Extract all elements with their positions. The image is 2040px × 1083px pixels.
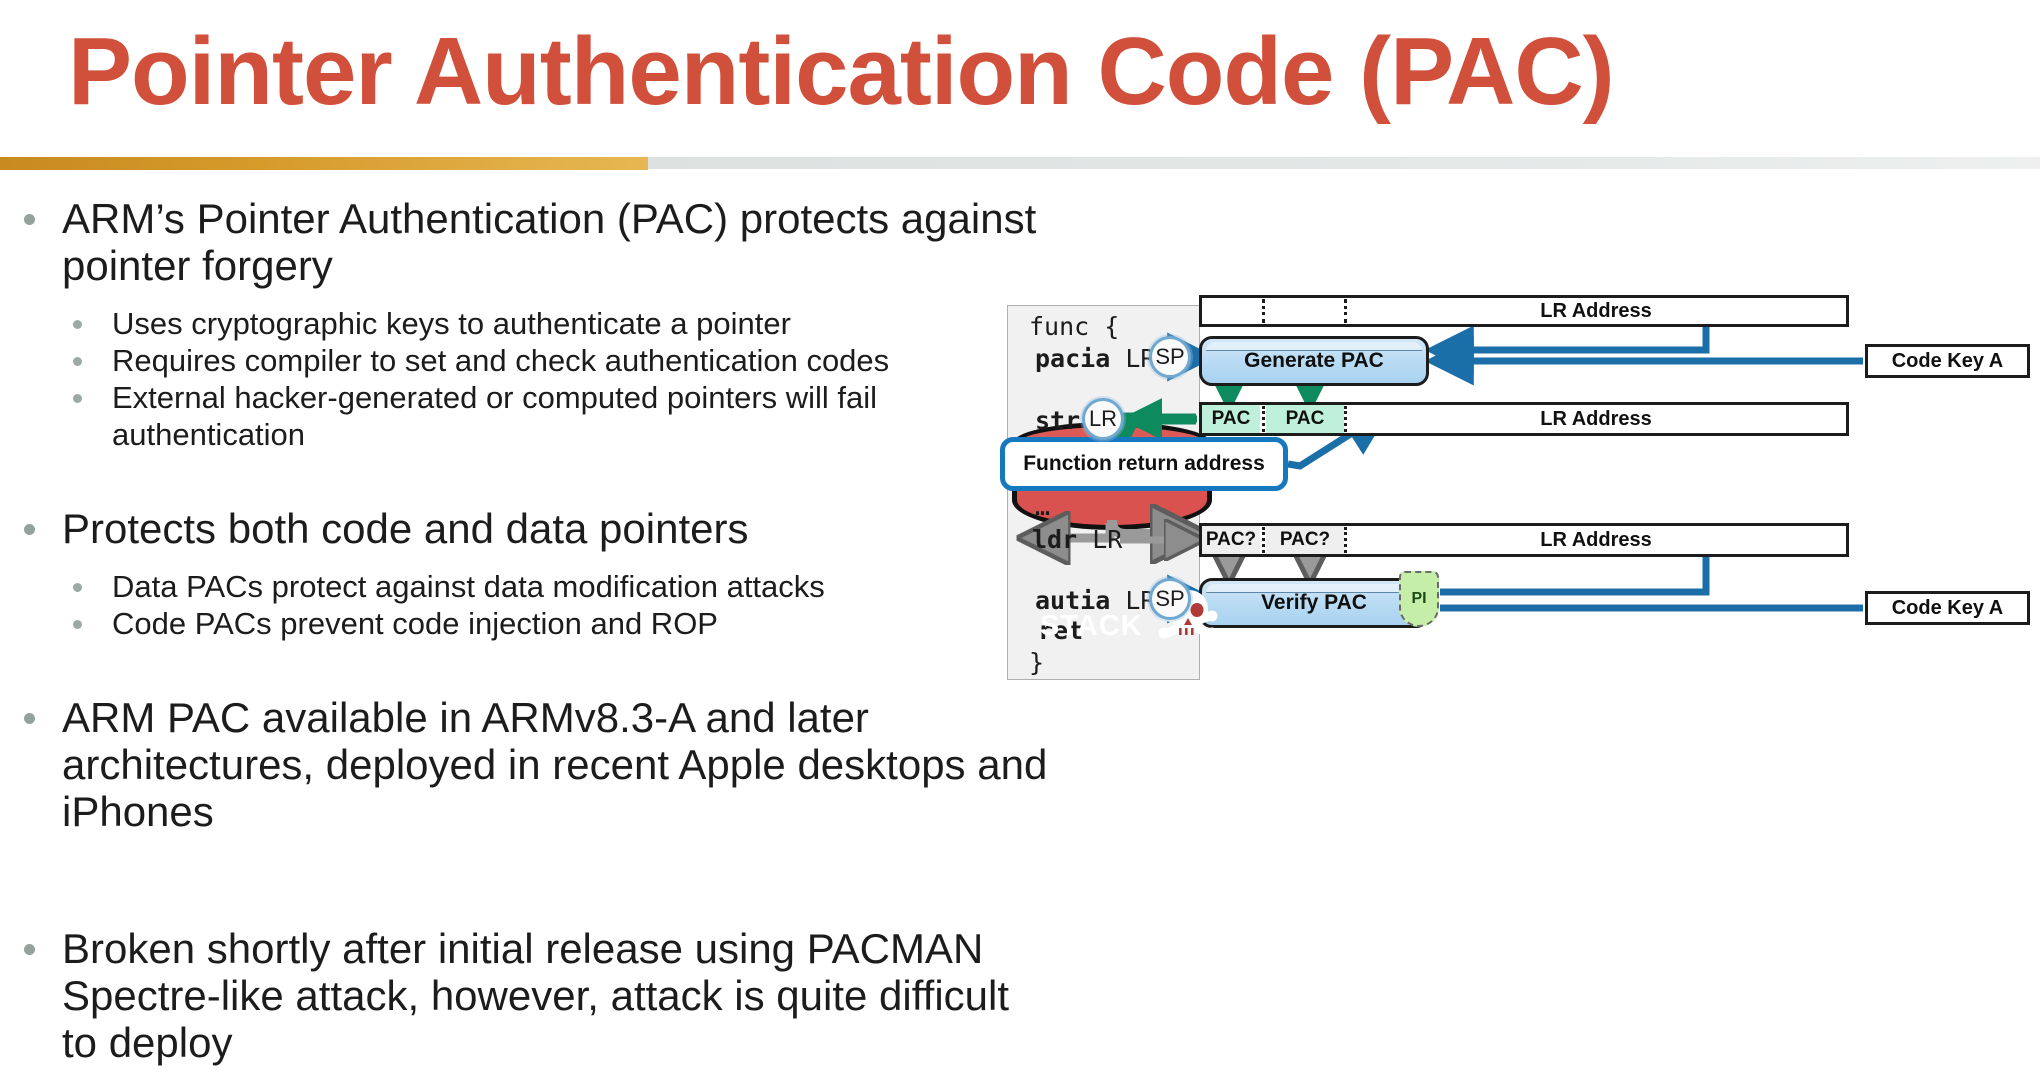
title-divider-gold (0, 157, 648, 170)
code-key-a-bottom-label: Code Key A (1868, 597, 2027, 620)
bullet-dot-icon (73, 357, 82, 366)
callout-function-return-address: Function return address (1000, 437, 1288, 491)
verify-pac-box: Verify PAC (1199, 578, 1429, 628)
register-divider-icon (1344, 299, 1347, 323)
bullet-item: ARM’s Pointer Authentication (PAC) prote… (0, 195, 1050, 289)
code-line-ldr: ldr LR (1032, 525, 1122, 554)
code-line-func-open: func { (1029, 312, 1119, 341)
bullet-text: ARM PAC available in ARMv8.3-A and later… (62, 694, 1047, 835)
bullet-dot-icon (73, 394, 82, 403)
register-address-label: LR Address (1346, 529, 1846, 552)
bullet-list: ARM’s Pointer Authentication (PAC) prote… (0, 195, 1050, 1066)
page-title: Pointer Authentication Code (PAC) (68, 16, 1968, 128)
sub-bullet-item: Requires compiler to set and check authe… (0, 342, 1050, 379)
code-operand-ldr: LR (1092, 525, 1122, 554)
sub-bullet-text: Requires compiler to set and check authe… (112, 343, 889, 378)
stack-label: STACK (1040, 610, 1143, 643)
code-line-str: str (1035, 406, 1080, 435)
register-divider-icon (1344, 406, 1347, 432)
generate-pac-label: Generate PAC (1244, 349, 1384, 373)
bullet-dot-icon (73, 620, 82, 629)
pac-cell-left: PAC (1202, 405, 1260, 433)
register-address-label: LR Address (1346, 408, 1846, 431)
badge-lr: LR (1082, 398, 1124, 440)
pac-unknown-cell-left: PAC? (1202, 526, 1260, 554)
sub-bullet-text: External hacker-generated or computed po… (112, 380, 877, 452)
badge-sp-bottom: SP (1149, 578, 1191, 620)
bullet-item: Protects both code and data pointers (0, 505, 1050, 552)
title-divider (0, 157, 2040, 170)
bullet-dot-icon (24, 214, 35, 225)
code-mnemonic-ldr: ldr (1032, 525, 1077, 554)
register-divider-icon (1262, 527, 1265, 553)
sub-bullet-item: Uses cryptographic keys to authenticate … (0, 305, 1050, 342)
generate-pac-box: Generate PAC (1199, 336, 1429, 386)
bullet-dot-icon (73, 320, 82, 329)
verify-pac-label: Verify PAC (1261, 591, 1367, 615)
bullet-dot-icon (73, 583, 82, 592)
bullet-text: Broken shortly after initial release usi… (62, 925, 1009, 1066)
shield-label: PI (1411, 590, 1426, 608)
register-divider-icon (1262, 299, 1265, 323)
code-mnemonic-str: str (1035, 406, 1080, 435)
bullet-item: ARM PAC available in ARMv8.3-A and later… (0, 694, 1050, 835)
register-divider-icon (1262, 406, 1265, 432)
sub-bullet-item: Data PACs protect against data modificat… (0, 568, 1050, 605)
code-line-func-close: } (1029, 648, 1044, 677)
bullet-dot-icon (24, 713, 35, 724)
bullet-text: ARM’s Pointer Authentication (PAC) prote… (62, 195, 1036, 289)
title-divider-grey (648, 157, 2040, 169)
bullet-text: Protects both code and data pointers (62, 505, 748, 552)
register-divider-icon (1344, 527, 1347, 553)
sub-bullet-text: Code PACs prevent code injection and ROP (112, 606, 718, 641)
pac-unknown-cell-right: PAC? (1266, 526, 1344, 554)
pac-cell-right: PAC (1266, 405, 1344, 433)
sub-bullet-text: Uses cryptographic keys to authenticate … (112, 306, 791, 341)
sub-bullet-text: Data PACs protect against data modificat… (112, 569, 825, 604)
code-key-a-top-label: Code Key A (1868, 350, 2027, 373)
register-row-top: LR Address (1199, 295, 1849, 327)
code-key-a-bottom: Code Key A (1865, 591, 2030, 625)
shield-icon: PI (1399, 571, 1439, 627)
code-line-ellipsis: … (1035, 492, 1051, 521)
register-address-label: LR Address (1346, 300, 1846, 323)
bullet-dot-icon (24, 524, 35, 535)
badge-sp-top: SP (1149, 336, 1191, 378)
bullet-dot-icon (24, 944, 35, 955)
code-mnemonic-pacia: pacia (1035, 344, 1110, 373)
bullet-item: Broken shortly after initial release usi… (0, 925, 1050, 1066)
sub-bullet-item: Code PACs prevent code injection and ROP (0, 605, 1050, 642)
code-key-a-top: Code Key A (1865, 344, 2030, 378)
sub-bullet-item: External hacker-generated or computed po… (0, 379, 1050, 453)
